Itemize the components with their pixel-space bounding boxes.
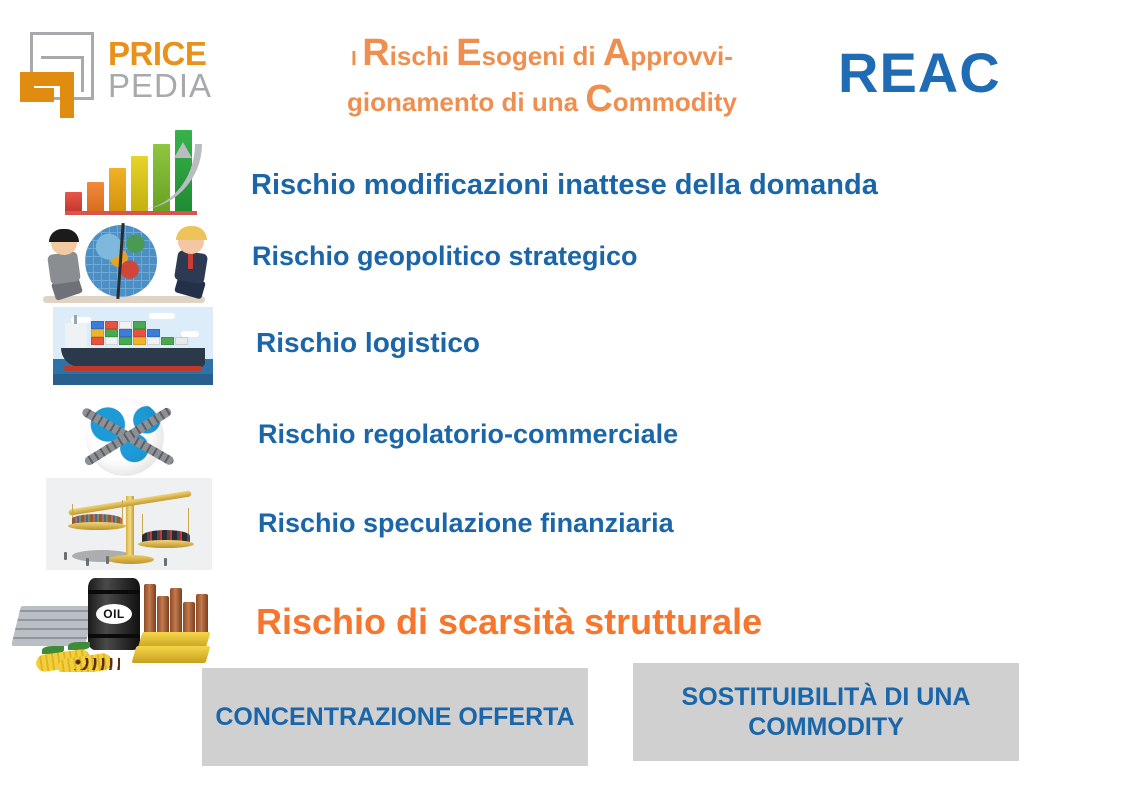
scale-tiny-person [86, 558, 89, 566]
risk-label-structural-scarcity: Rischio di scarsità strutturale [256, 601, 762, 643]
logo-inner-vertical [81, 56, 84, 92]
gold-bar [132, 646, 211, 663]
logo-text-price: PRICE [108, 38, 212, 69]
silver-bars [12, 606, 95, 646]
risk-label-regulatory: Rischio regolatorio-commerciale [258, 419, 678, 450]
ship-container [91, 321, 104, 329]
cartoon-leader-right [162, 229, 210, 299]
ship-container [147, 329, 160, 337]
ship-container [119, 321, 132, 329]
leader-left-body [47, 251, 81, 285]
title-part-approvvi: pprovvi- [630, 41, 733, 71]
title-part-gionamento: gionamento di una [347, 87, 585, 117]
ship-cloud-2 [149, 313, 175, 319]
title-lead: I [351, 48, 362, 70]
ship-container [119, 329, 132, 337]
ship-container [147, 337, 160, 345]
ship-container [105, 337, 118, 345]
cartoon-leader-left [45, 231, 91, 299]
ship-container [133, 337, 146, 345]
scale-pan-right [138, 540, 194, 548]
copper-pipe [157, 596, 169, 636]
chained-globe-image [68, 392, 208, 480]
barrel-band [88, 634, 140, 638]
logo-orange-bar-right [60, 72, 74, 118]
ship-hull-stripe [63, 366, 201, 371]
risk-label-logistic: Rischio logistico [256, 327, 480, 359]
ship-bridge-tower [65, 323, 87, 348]
growth-chart-image [57, 128, 212, 220]
commodities-image: OIL [12, 570, 212, 672]
ship-container [175, 337, 188, 345]
scale-tiny-person [64, 552, 67, 560]
leader-right-hair [176, 226, 207, 240]
oil-barrel: OIL [88, 578, 140, 650]
ship-container [161, 337, 174, 345]
title-part-sogeni: sogeni di [482, 41, 603, 71]
copper-pipe [170, 588, 182, 636]
price-pedia-mark-icon [16, 28, 100, 120]
scale-tiny-person [164, 558, 167, 566]
arrow-head-icon [174, 142, 192, 158]
ship-container [119, 337, 132, 345]
page-title: I Rischi Esogeni di Approvvi-gionamento … [262, 30, 822, 123]
title-part-ommodity: ommodity [613, 87, 737, 117]
logo-orange-bar-bottom [20, 88, 54, 102]
balance-scale-image [46, 478, 212, 574]
title-initial-c: C [585, 78, 612, 120]
ship-container [133, 321, 146, 329]
logo-wordmark: PRICE PEDIA [108, 38, 212, 102]
copper-pipe [144, 584, 156, 636]
coffee-beans [74, 658, 120, 670]
scale-base [108, 555, 154, 564]
risk-label-demand: Rischio modificazioni inattese della dom… [251, 169, 878, 202]
leader-right-tie [188, 253, 193, 269]
ship-container [91, 337, 104, 345]
driver-box-supply-concentration: CONCENTRAZIONE OFFERTA [202, 668, 588, 766]
ship-mast [74, 315, 77, 324]
ship-sea-dark [53, 374, 213, 385]
title-initial-r: R [362, 32, 389, 74]
title-initial-a: A [603, 32, 630, 74]
pricepedia-logo: PRICE PEDIA [16, 28, 226, 120]
risk-label-speculation: Rischio speculazione finanziaria [258, 508, 674, 539]
copper-pipe [196, 594, 208, 636]
geopolitics-cartoon-image [37, 215, 212, 305]
barrel-band [88, 590, 140, 594]
logo-inner-line [41, 56, 84, 59]
slide-canvas: PRICE PEDIA I Rischi Esogeni di Approvvi… [0, 0, 1121, 793]
risk-label-geopolitical: Rischio geopolitico strategico [252, 241, 638, 272]
scale-pan-left [68, 522, 126, 530]
ship-container [105, 321, 118, 329]
title-part-ischi: ischi [390, 41, 456, 71]
copper-pipe [183, 602, 195, 636]
container-ship-image [53, 307, 213, 385]
ship-container [133, 329, 146, 337]
leader-left-hair [49, 229, 79, 242]
driver-box-substitutability: SOSTITUIBILITÀ DI UNA COMMODITY [633, 663, 1019, 761]
ship-container [91, 329, 104, 337]
ship-container [105, 329, 118, 337]
ship-hull [61, 348, 205, 367]
logo-text-pedia: PEDIA [108, 69, 212, 102]
oil-label: OIL [96, 604, 132, 624]
acronym-reac: REAC [838, 40, 1001, 105]
scale-string [122, 500, 123, 524]
scale-tiny-person [106, 556, 109, 564]
title-initial-e: E [456, 32, 481, 74]
